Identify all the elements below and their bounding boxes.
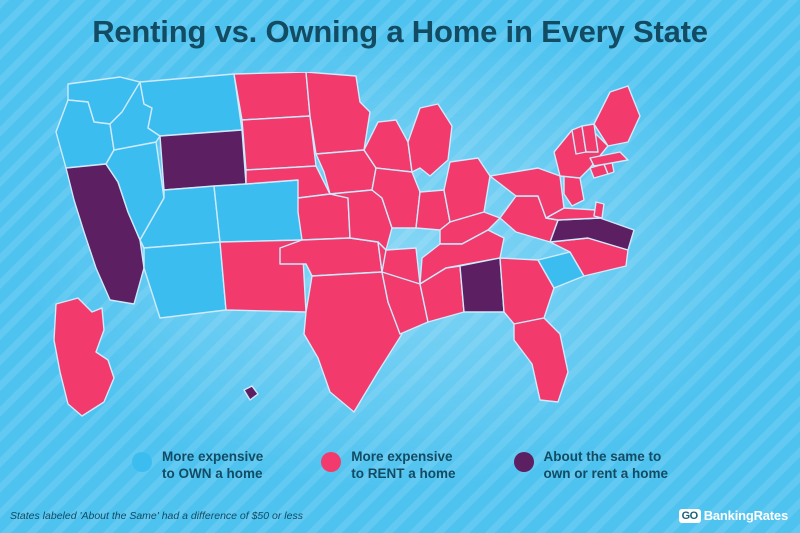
us-choropleth-map <box>48 72 760 432</box>
state-mt <box>140 74 242 136</box>
state-fl <box>514 318 568 402</box>
footnote: States labeled 'About the Same' had a di… <box>10 510 303 522</box>
legend-item-rent: More expensive to RENT a home <box>321 448 455 482</box>
legend-item-same: About the same to own or rent a home <box>514 448 669 482</box>
legend-label-same: About the same to own or rent a home <box>544 448 669 482</box>
state-me <box>594 86 640 146</box>
state-az <box>144 242 226 318</box>
state-wy <box>160 130 246 190</box>
state-mi <box>408 104 452 176</box>
state-ks <box>298 194 350 240</box>
legend-label-own: More expensive to OWN a home <box>162 448 263 482</box>
state-al <box>460 258 504 312</box>
page-title: Renting vs. Owning a Home in Every State <box>0 14 800 50</box>
logo-text: BankingRates <box>704 508 788 523</box>
state-de <box>594 202 604 218</box>
state-mn <box>306 72 370 154</box>
state-ak <box>54 298 114 416</box>
legend-swatch-rent <box>321 452 341 472</box>
state-co <box>214 180 302 242</box>
legend-label-rent: More expensive to RENT a home <box>351 448 455 482</box>
state-hi <box>244 386 258 400</box>
legend-swatch-own <box>132 452 152 472</box>
state-nd <box>234 72 310 120</box>
state-nj <box>564 176 584 206</box>
legend: More expensive to OWN a home More expens… <box>0 448 800 482</box>
legend-item-own: More expensive to OWN a home <box>132 448 263 482</box>
legend-swatch-same <box>514 452 534 472</box>
logo-badge: GO <box>679 509 701 523</box>
state-sd <box>242 116 316 170</box>
infographic-root: Renting vs. Owning a Home in Every State… <box>0 0 800 533</box>
gobankingrates-logo: GO BankingRates <box>679 508 788 523</box>
